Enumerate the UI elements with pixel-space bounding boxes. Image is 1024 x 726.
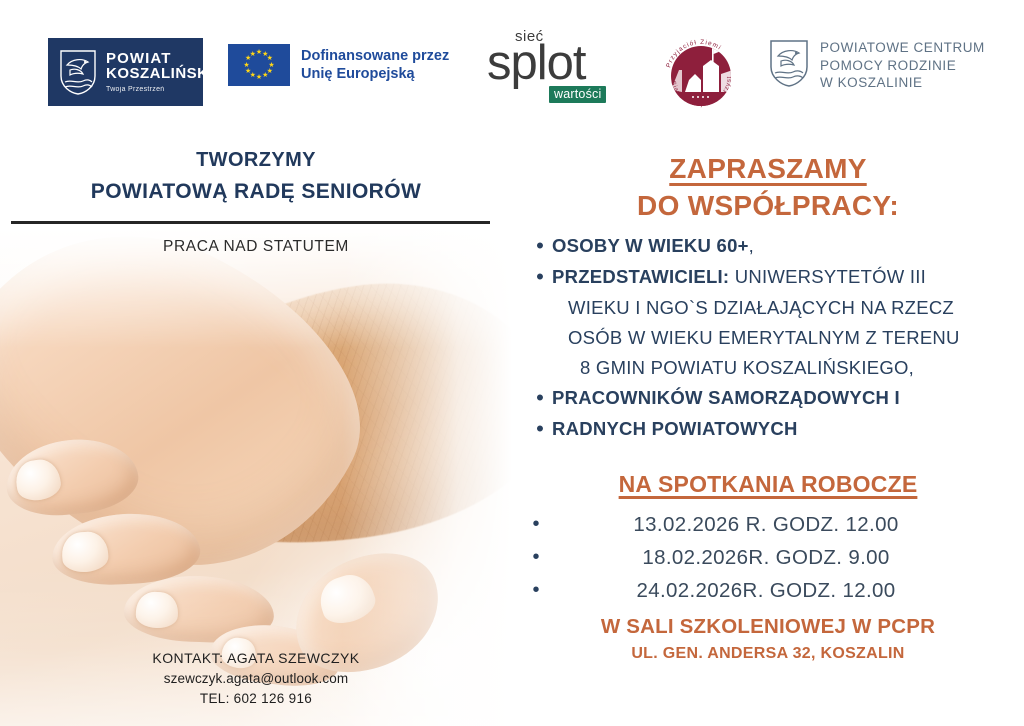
contact-name: KONTAKT: AGATA SZEWCZYK <box>0 650 512 666</box>
pcpr-text-block: POWIATOWE CENTRUM POMOCY RODZINIE W KOSZ… <box>820 39 985 93</box>
venue-block: W SALI SZKOLENIOWEJ W PCPR UL. GEN. ANDE… <box>512 615 1024 663</box>
bullet-dot-icon: • <box>528 231 552 261</box>
headline-line1: TWORZYMY <box>0 145 512 176</box>
list-item-label: RADNYCH POWIATOWYCH <box>552 414 798 444</box>
meeting-date-label: 24.02.2026R. GODZ. 12.00 <box>560 579 1024 603</box>
list-item-label: PRACOWNIKÓW SAMORZĄDOWYCH I <box>552 383 900 413</box>
invitation-title: ZAPRASZAMY DO WSPÓŁPRACY: <box>512 150 1024 224</box>
bullet-dot-icon: • <box>528 414 552 444</box>
list-item-continuation-line: 8 GMIN POWIATU KOSZALIŃSKIEGO, <box>580 353 1024 383</box>
subtitle-praca-nad-statutem: PRACA NAD STATUTEM <box>0 238 512 256</box>
eu-funding-text-block: Dofinansowane przez Unię Europejską <box>301 47 449 83</box>
splot-wordmark: splot <box>487 39 586 88</box>
logo-siec-splot: sieć splot wartości <box>487 28 633 108</box>
bullet-dot-icon: • <box>528 262 552 292</box>
eu-funding-line2: Unię Europejską <box>301 65 449 83</box>
logo-powiat-text-block: POWIAT KOSZALIŃSKI Twoja Przestrzeń <box>106 51 213 93</box>
list-item: •RADNYCH POWIATOWYCH <box>528 414 1024 444</box>
contact-email[interactable]: szewczyk.agata@outlook.com <box>0 671 512 686</box>
european-union-flag-icon: ★★★★★★★★★★★★ <box>228 44 290 86</box>
eu-star-icon: ★ <box>256 74 263 81</box>
bullet-dot-icon: • <box>512 513 560 536</box>
invitation-line2: DO WSPÓŁPRACY: <box>512 187 1024 224</box>
logo-powiat-line1: POWIAT <box>106 51 213 66</box>
list-item-label-bold: RADNYCH POWIATOWYCH <box>552 418 798 439</box>
meetings-heading-text: NA SPOTKANIA ROBOCZE <box>619 471 918 497</box>
logo-powiat-line2: KOSZALIŃSKI <box>106 66 213 81</box>
meeting-date-label: 18.02.2026R. GODZ. 9.00 <box>560 546 1024 570</box>
list-item: •PRZEDSTAWICIELI: UNIWERSYTETÓW III <box>528 262 1024 292</box>
eu-star-icon: ★ <box>249 51 256 58</box>
meetings-heading: NA SPOTKANIA ROBOCZE <box>512 471 1024 498</box>
towarzystwo-przyjaciol-ziemi-sianowskiej-seal-icon: Przyjaciół Ziemi Sianowskiej · Towarzyst… <box>655 30 747 122</box>
headline-line2: POWIATOWĄ RADĘ SENIORÓW <box>0 176 512 209</box>
meeting-dates-list: •13.02.2026 R. GODZ. 12.00•18.02.2026R. … <box>512 508 1024 607</box>
bullet-dot-icon: • <box>512 579 560 602</box>
contact-block: KONTAKT: AGATA SZEWCZYK szewczyk.agata@o… <box>0 650 512 706</box>
pcpr-line2: POMOCY RODZINIE <box>820 57 985 75</box>
venue-address: UL. GEN. ANDERSA 32, KOSZALIN <box>512 645 1024 663</box>
list-item-label-normal: UNIWERSYTETÓW III <box>729 266 926 287</box>
logo-european-union: ★★★★★★★★★★★★ Dofinansowane przez Unię Eu… <box>228 44 449 86</box>
logo-pcpr: POWIATOWE CENTRUM POMOCY RODZINIE W KOSZ… <box>768 38 985 93</box>
meeting-date-label: 13.02.2026 R. GODZ. 12.00 <box>560 513 1024 537</box>
pcpr-line1: POWIATOWE CENTRUM <box>820 39 985 57</box>
meeting-date-row: •18.02.2026R. GODZ. 9.00 <box>512 541 1024 574</box>
list-item: •OSOBY W WIEKU 60+, <box>528 231 1024 261</box>
powiat-koszalinski-crest-icon <box>58 48 98 96</box>
bullet-dot-icon: • <box>528 383 552 413</box>
list-item-label-bold: PRACOWNIKÓW SAMORZĄDOWYCH I <box>552 387 900 408</box>
bullet-dot-icon: • <box>512 546 560 569</box>
pcpr-line3: W KOSZALINIE <box>820 74 985 92</box>
list-item-label: PRZEDSTAWICIELI: UNIWERSYTETÓW III <box>552 262 926 292</box>
logo-powiat-koszalinski: POWIAT KOSZALIŃSKI Twoja Przestrzeń <box>48 38 203 106</box>
eu-star-icon: ★ <box>245 68 252 75</box>
list-item-label-bold: PRZEDSTAWICIELI: <box>552 266 729 287</box>
pcpr-crest-icon <box>768 38 810 93</box>
list-item: •PRACOWNIKÓW SAMORZĄDOWYCH I <box>528 383 1024 413</box>
list-item-continuation-line: WIEKU I NGO`S DZIAŁAJĄCYCH NA RZECZ <box>568 293 1024 323</box>
contact-phone: TEL: 602 126 916 <box>0 691 512 706</box>
logo-powiat-tagline: Twoja Przestrzeń <box>106 86 213 93</box>
list-item-label: OSOBY W WIEKU 60+, <box>552 231 754 261</box>
splot-wartosci-badge: wartości <box>549 86 606 103</box>
left-column: TWORZYMY POWIATOWĄ RADĘ SENIORÓW PRACA N… <box>0 128 512 726</box>
list-item-label-normal: , <box>749 235 754 256</box>
logo-towarzystwo-seal: Przyjaciół Ziemi Sianowskiej · Towarzyst… <box>655 30 747 122</box>
horizontal-divider <box>11 221 490 224</box>
meeting-date-row: •13.02.2026 R. GODZ. 12.00 <box>512 508 1024 541</box>
poster-canvas: POWIAT KOSZALIŃSKI Twoja Przestrzeń ★★★★… <box>0 0 1024 726</box>
eu-star-icon: ★ <box>262 72 269 79</box>
meeting-date-row: •24.02.2026R. GODZ. 12.00 <box>512 574 1024 607</box>
venue-name: W SALI SZKOLENIOWEJ W PCPR <box>512 615 1024 639</box>
audience-bullet-list: •OSOBY W WIEKU 60+,•PRZEDSTAWICIELI: UNI… <box>528 231 1024 445</box>
page-title: TWORZYMY POWIATOWĄ RADĘ SENIORÓW <box>0 145 512 209</box>
list-item-label-bold: OSOBY W WIEKU 60+ <box>552 235 749 256</box>
eu-funding-line1: Dofinansowane przez <box>301 47 449 65</box>
right-column: ZAPRASZAMY DO WSPÓŁPRACY: •OSOBY W WIEKU… <box>512 128 1024 726</box>
eu-star-icon: ★ <box>243 62 250 69</box>
logo-bar: POWIAT KOSZALIŃSKI Twoja Przestrzeń ★★★★… <box>0 0 1024 128</box>
invitation-line1: ZAPRASZAMY <box>512 150 1024 187</box>
list-item-continuation-line: OSÓB W WIEKU EMERYTALNYM Z TERENU <box>568 323 1024 353</box>
